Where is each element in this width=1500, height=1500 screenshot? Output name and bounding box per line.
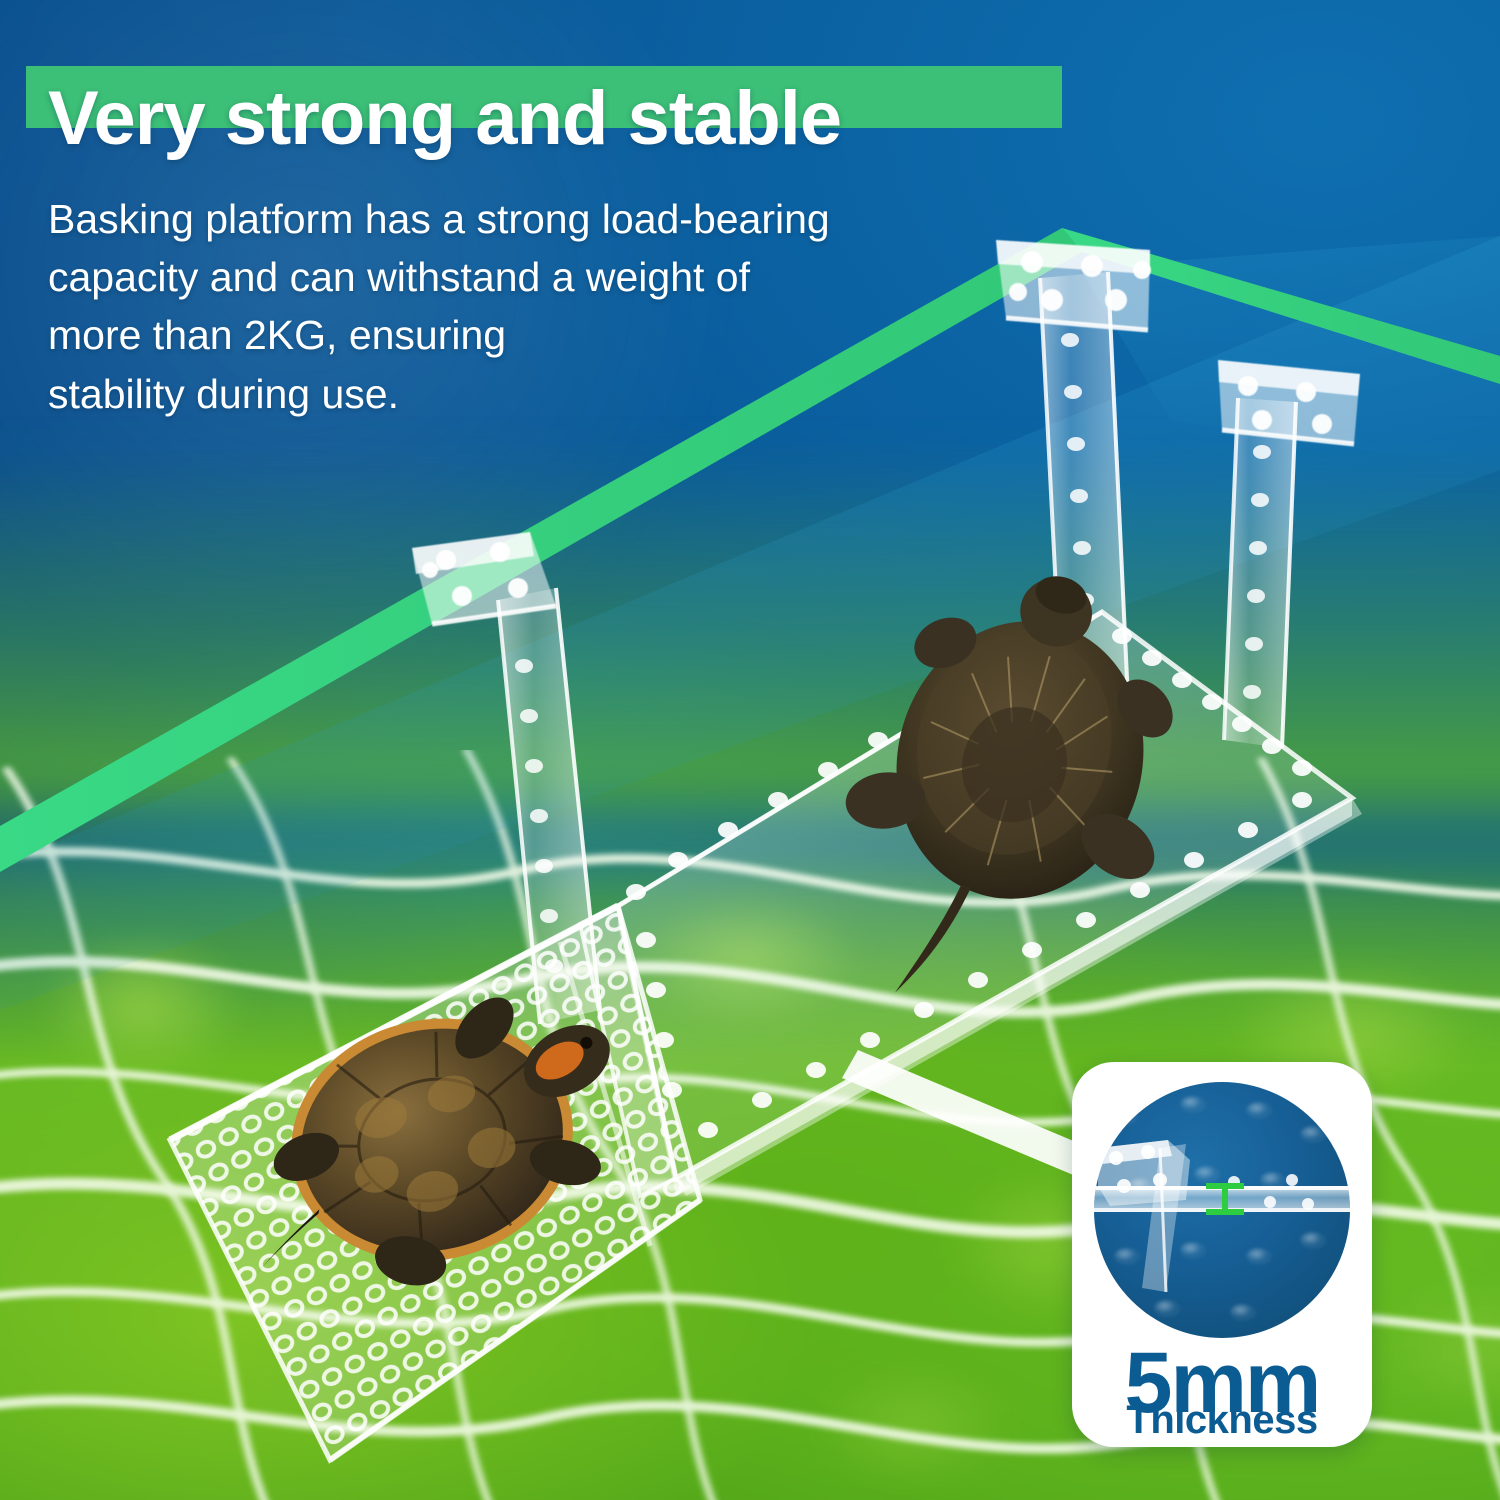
headline-block: Very strong and stable [26, 66, 841, 144]
description-paragraph: Basking platform has a strong load-beari… [48, 190, 1008, 423]
page-title: Very strong and stable [26, 80, 841, 158]
thickness-badge: 5mm Thickness [1072, 1062, 1372, 1447]
bracket-left [412, 532, 556, 624]
bracket-right [1218, 360, 1360, 444]
bracket-center [996, 240, 1151, 330]
description-line-4: stability during use. [48, 365, 1008, 423]
hanger-post-right [1224, 398, 1296, 748]
description-line-3: more than 2KG, ensuring [48, 306, 1008, 364]
description-line-1: Basking platform has a strong load-beari… [48, 190, 1008, 248]
thickness-label: Thickness [1072, 1400, 1372, 1440]
description-line-2: capacity and can withstand a weight of [48, 248, 1008, 306]
product-feature-image: Very strong and stable Basking platform … [0, 0, 1500, 1500]
acrylic-edge-closeup [1094, 1082, 1350, 1338]
thickness-zoom-inset [1094, 1082, 1350, 1338]
